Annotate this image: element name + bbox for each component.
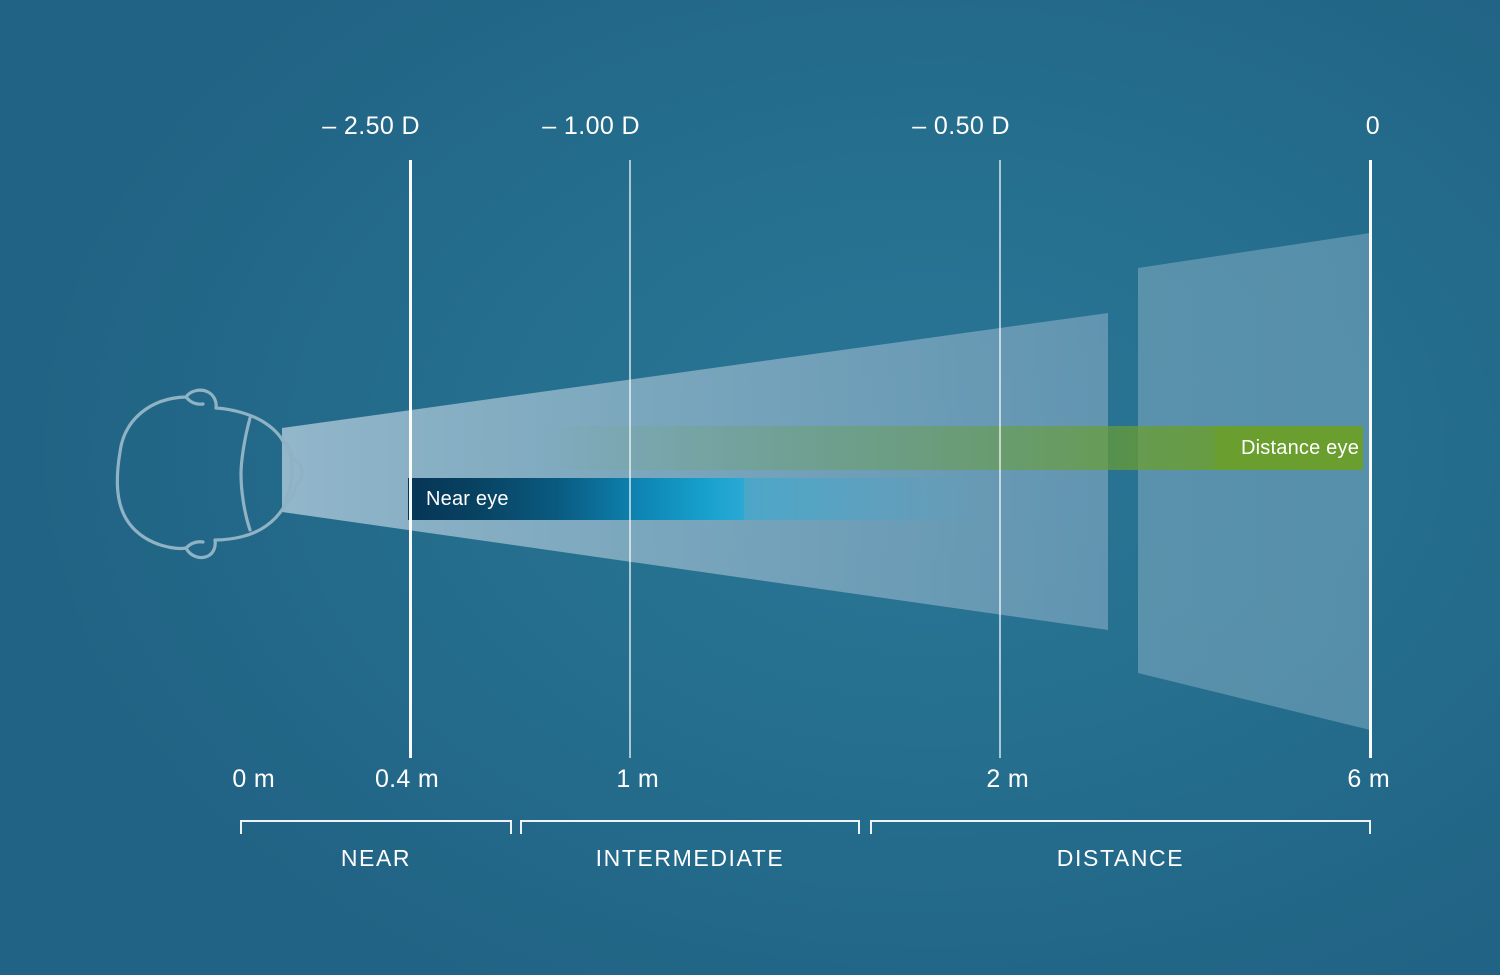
range-bracket-near [240,820,512,834]
far-plane-shape [1138,233,1370,730]
head-top-view-icon [117,390,302,557]
range-label-distance: DISTANCE [870,845,1371,872]
range-label-intermediate: INTERMEDIATE [520,845,860,872]
distance-eye-label: Distance eye [1241,437,1359,460]
dioptre-label-0.50: – 0.50 D [850,112,1010,141]
distance-label-2m: 2 m [884,765,1029,794]
dioptre-rule-1.00 [629,160,631,758]
near-vision-cone [282,313,1108,630]
dioptre-rule-0 [1369,160,1372,758]
near-eye-gradient-tail [744,478,978,520]
dioptre-label-0: 0 [1240,112,1380,141]
dioptre-rule-2.50 [409,160,412,758]
distance-label-1m: 1 m [514,765,659,794]
range-bracket-distance [870,820,1371,834]
distance-label-0.4m: 0.4 m [294,765,439,794]
dioptre-rule-0.50 [999,160,1001,758]
distance-label-6m: 6 m [1245,765,1390,794]
range-bracket-intermediate [520,820,860,834]
near-eye-label: Near eye [426,488,509,511]
dioptre-label-1.00: – 1.00 D [480,112,640,141]
distance-eye-bar[interactable]: Distance eye [1215,426,1363,470]
distance-eye-gradient-tail [536,426,1215,470]
near-eye-bar[interactable]: Near eye [408,478,744,520]
range-label-near: NEAR [240,845,512,872]
diagram-canvas: Distance eye Near eye – 2.50 D – 1.00 D … [0,0,1500,975]
dioptre-label-2.50: – 2.50 D [260,112,420,141]
distance-label-0m: 0 m [130,765,275,794]
